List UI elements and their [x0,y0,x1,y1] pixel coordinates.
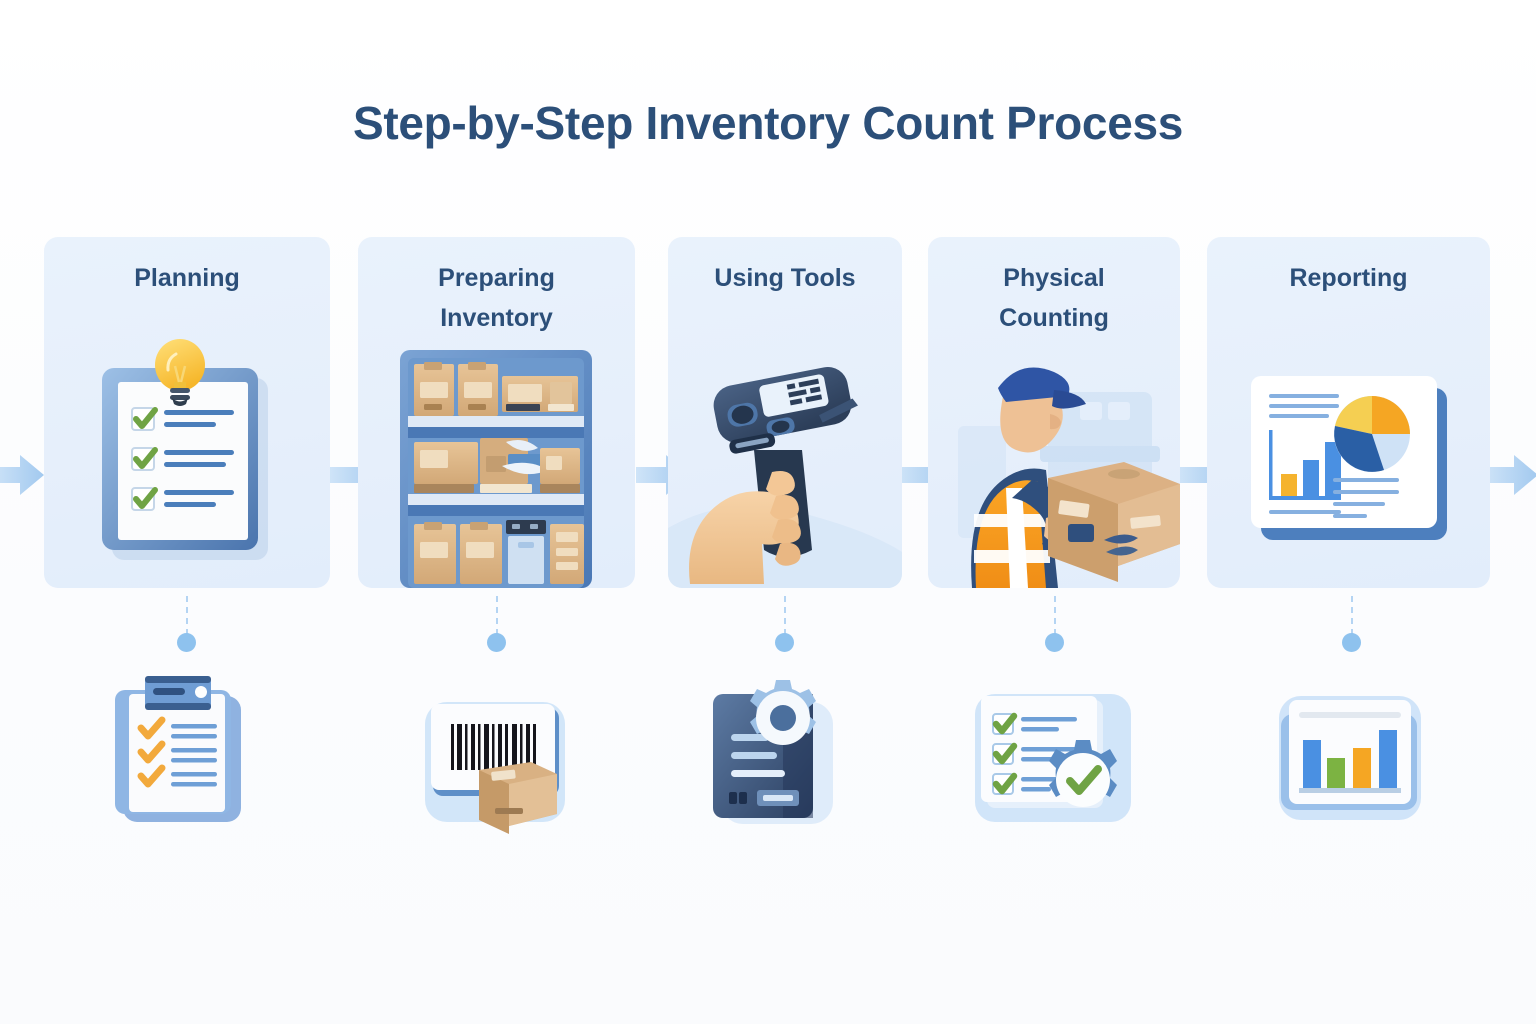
step-label-line1: Physical [1003,264,1104,292]
warehouse-worker-carrying-box-illustration [928,338,1180,588]
step-label-line2: Inventory [440,304,553,332]
step-card-planning[interactable]: Planning [44,237,330,588]
step-label-line1: Preparing [438,264,555,292]
connector-line-5 [1351,596,1353,634]
connector-line-3 [784,596,786,634]
bar-chart-report-icon[interactable] [1265,672,1437,838]
clipboard-checklist-icon[interactable] [101,672,273,838]
step-card-preparing-inventory[interactable]: Preparing Inventory [358,237,635,588]
connector-line-4 [1054,596,1056,634]
warehouse-shelving-boxes-illustration [358,338,635,588]
report-charts-document-illustration [1207,338,1490,588]
process-flow-arrow-0 [0,447,46,503]
hand-holding-barcode-scanner-illustration [668,338,902,588]
page-title: Step-by-Step Inventory Count Process [0,96,1536,150]
step-label-physical-counting: Physical Counting [928,259,1180,338]
process-flow-arrow-5 [1484,447,1536,503]
step-card-reporting[interactable]: Reporting [1207,237,1490,588]
connector-dot-3 [775,633,794,652]
connector-dot-4 [1045,633,1064,652]
infographic-canvas: Step-by-Step Inventory Count Process [0,0,1536,1024]
step-label-using-tools: Using Tools [668,259,902,299]
connector-dot-1 [177,633,196,652]
connector-dot-2 [487,633,506,652]
connector-line-1 [186,596,188,634]
step-label-line2: Counting [999,304,1109,332]
barcode-label-box-icon[interactable] [417,672,589,838]
device-gear-icon[interactable] [695,672,867,838]
step-card-physical-counting[interactable]: Physical Counting [928,237,1180,588]
step-label-reporting: Reporting [1207,259,1490,299]
step-label-preparing-inventory: Preparing Inventory [358,259,635,338]
connector-line-2 [496,596,498,634]
step-card-using-tools[interactable]: Using Tools [668,237,902,588]
verified-checklist-gear-icon[interactable] [967,672,1139,838]
clipboard-checklist-lightbulb-illustration [44,338,330,588]
step-label-planning: Planning [44,259,330,299]
connector-dot-5 [1342,633,1361,652]
